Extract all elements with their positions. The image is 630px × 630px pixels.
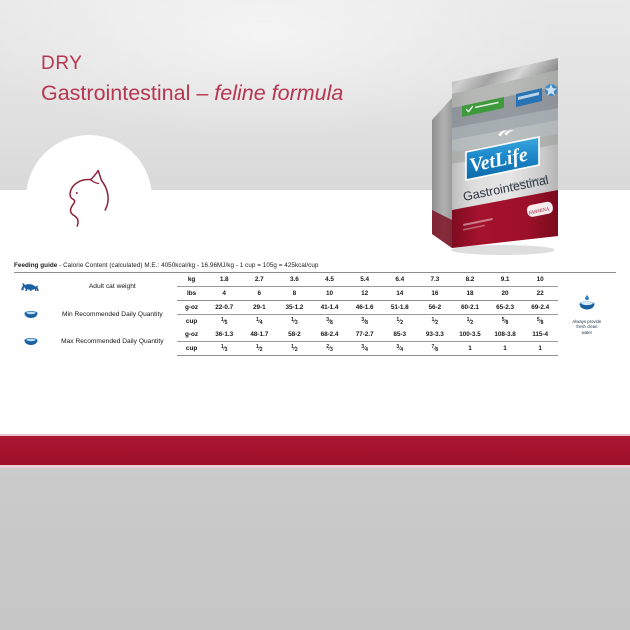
cell-max-cup-5: 3⁄4 [347, 342, 382, 356]
cell-min-goz-7: 56-2 [417, 301, 452, 315]
cell-max-goz-4: 68-2.4 [312, 328, 347, 342]
cat-silhouette-icon [14, 281, 48, 293]
cell-max-cup-2: 1⁄2 [242, 342, 277, 356]
row-icon-bowl-min [14, 301, 48, 329]
cell-min-cup-4: 3⁄8 [312, 315, 347, 329]
cell-max-goz-10: 115-4 [523, 328, 558, 342]
cell-max-goz-3: 58-2 [277, 328, 312, 342]
cell-max-cup-4: 2⁄3 [312, 342, 347, 356]
cell-max-cup-6: 3⁄4 [382, 342, 417, 356]
unit-cup-max: cup [177, 342, 207, 356]
table-row: Max Recommended Daily Quantity g-oz 36-1… [14, 328, 616, 342]
cat-head-outline-icon [50, 158, 128, 239]
cell-min-cup-7: 1⁄2 [417, 315, 452, 329]
cell-min-goz-3: 35-1.2 [277, 301, 312, 315]
table-row: Min Recommended Daily Quantity g-oz 22-0… [14, 301, 616, 315]
water-note-text: Always provide fresh clean water [558, 319, 616, 336]
cell-kg-9: 9.1 [488, 273, 523, 287]
footer-grey-area [0, 468, 630, 630]
food-bowl-icon [14, 336, 48, 347]
unit-g-oz-min: g-oz [177, 301, 207, 315]
row-label-max-recommended: Max Recommended Daily Quantity [48, 328, 176, 356]
unit-cup-min: cup [177, 315, 207, 329]
cell-max-cup-3: 1⁄2 [277, 342, 312, 356]
cell-lbs-3: 8 [277, 287, 312, 301]
cell-kg-1: 1.8 [207, 273, 242, 287]
page-title: DRY Gastrointestinal – feline formula [41, 52, 343, 108]
cell-min-cup-2: 1⁄4 [242, 315, 277, 329]
food-bowl-icon [14, 309, 48, 320]
cell-max-goz-1: 36-1.3 [207, 328, 242, 342]
cell-max-cup-10: 1 [523, 342, 558, 356]
row-label-adult-cat-weight: Adult cat weight [48, 273, 176, 301]
row-icon-bowl-max [14, 328, 48, 356]
cell-max-cup-9: 1 [488, 342, 523, 356]
cell-min-cup-5: 3⁄8 [347, 315, 382, 329]
title-kicker: DRY [41, 52, 343, 76]
unit-kg: kg [177, 273, 207, 287]
cat-logo-circle [26, 135, 152, 261]
cell-lbs-9: 20 [488, 287, 523, 301]
cell-min-goz-4: 41-1.4 [312, 301, 347, 315]
cell-kg-2: 2.7 [242, 273, 277, 287]
cell-kg-6: 6.4 [382, 273, 417, 287]
cell-kg-5: 5.4 [347, 273, 382, 287]
cell-min-goz-9: 65-2.3 [488, 301, 523, 315]
cell-max-cup-8: 1 [452, 342, 487, 356]
title-dash: – [190, 81, 214, 105]
cell-max-goz-9: 108-3.8 [488, 328, 523, 342]
feeding-guide: Feeding guide - Calorie Content (calcula… [14, 262, 616, 356]
cell-min-cup-8: 1⁄2 [452, 315, 487, 329]
title-product-name: Gastrointestinal [41, 81, 190, 105]
feeding-guide-caption-rest: - Calorie Content (calculated) M.E.: 405… [57, 262, 318, 269]
cell-lbs-4: 10 [312, 287, 347, 301]
cell-lbs-2: 6 [242, 287, 277, 301]
cell-min-cup-6: 1⁄2 [382, 315, 417, 329]
feeding-guide-table: Adult cat weight kg 1.8 2.7 3.6 4.5 5.4 … [14, 272, 616, 356]
bag-side-gusset [432, 98, 452, 248]
unit-g-oz-max: g-oz [177, 328, 207, 342]
cell-lbs-5: 12 [347, 287, 382, 301]
cell-max-goz-7: 93-3.3 [417, 328, 452, 342]
unit-lbs: lbs [177, 287, 207, 301]
product-sheet-page: DRY Gastrointestinal – feline formula [0, 0, 630, 630]
cell-min-goz-5: 46-1.6 [347, 301, 382, 315]
cell-min-cup-10: 5⁄8 [523, 315, 558, 329]
title-main-line: Gastrointestinal – feline formula [41, 80, 343, 108]
cell-min-goz-2: 29-1 [242, 301, 277, 315]
table-row: Adult cat weight kg 1.8 2.7 3.6 4.5 5.4 … [14, 273, 616, 287]
cell-min-cup-9: 5⁄8 [488, 315, 523, 329]
cell-kg-3: 3.6 [277, 273, 312, 287]
cell-max-cup-1: 1⁄3 [207, 342, 242, 356]
cell-max-goz-8: 100-3.5 [452, 328, 487, 342]
cell-max-cup-7: 7⁄8 [417, 342, 452, 356]
row-icon-cat [14, 273, 48, 301]
cell-lbs-8: 18 [452, 287, 487, 301]
cell-max-goz-6: 85-3 [382, 328, 417, 342]
product-bag-image: VetLife Gastrointestinal FELINE FORMULA … [408, 24, 583, 259]
cell-lbs-10: 22 [523, 287, 558, 301]
cell-min-goz-1: 22-0.7 [207, 301, 242, 315]
cell-min-goz-8: 60-2.1 [452, 301, 487, 315]
water-note-line-3: water [558, 330, 616, 336]
fresh-water-note: Always provide fresh clean water [558, 273, 616, 356]
title-subtitle: feline formula [214, 81, 343, 105]
feeding-guide-caption: Feeding guide - Calorie Content (calcula… [14, 262, 616, 269]
cell-max-goz-5: 77-2.7 [347, 328, 382, 342]
cell-kg-7: 7.3 [417, 273, 452, 287]
cell-min-goz-10: 69-2.4 [523, 301, 558, 315]
cell-min-cup-3: 1⁄3 [277, 315, 312, 329]
cell-max-goz-2: 48-1.7 [242, 328, 277, 342]
cell-kg-8: 8.2 [452, 273, 487, 287]
cell-lbs-6: 14 [382, 287, 417, 301]
cell-kg-10: 10 [523, 273, 558, 287]
feeding-guide-caption-bold: Feeding guide [14, 262, 57, 269]
cell-min-cup-1: 1⁄5 [207, 315, 242, 329]
cell-lbs-7: 16 [417, 287, 452, 301]
cell-lbs-1: 4 [207, 287, 242, 301]
water-bowl-icon [576, 300, 598, 317]
red-accent-band [0, 436, 630, 465]
row-label-min-recommended: Min Recommended Daily Quantity [48, 301, 176, 329]
cell-min-goz-6: 51-1.8 [382, 301, 417, 315]
cell-kg-4: 4.5 [312, 273, 347, 287]
